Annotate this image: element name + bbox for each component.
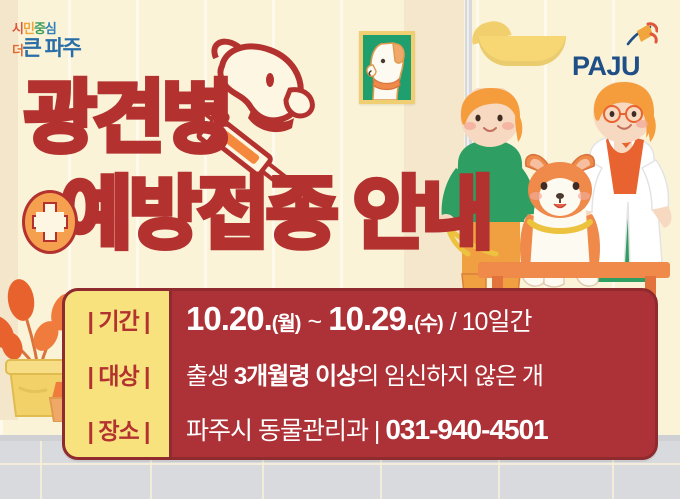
info-value-target: 출생 3개월령 이상의 임신하지 않은 개 — [172, 356, 655, 391]
tagline-char-2: 민 — [23, 21, 34, 36]
poster-title: 광견병 예방접종 안내 — [16, 78, 486, 268]
running-figure-mark-icon — [624, 22, 658, 48]
info-value-place: 파주시 동물관리과 | 031-940-4501 — [172, 411, 655, 447]
target-strong: 3개월령 이상 — [234, 363, 357, 390]
period-end-date: 10.29. — [328, 300, 414, 337]
target-pre: 출생 — [186, 363, 234, 390]
tagline-char-4: 심 — [45, 21, 56, 36]
city-name-logo: 더큰 파주 — [12, 37, 132, 62]
tagline-char-1: 시 — [12, 21, 23, 36]
target-post: 의 임신하지 않은 개 — [357, 363, 543, 390]
info-row-place: | 장소 | 파주시 동물관리과 | 031-940-4501 — [65, 402, 655, 457]
tagline-char-3: 중 — [34, 21, 45, 36]
period-duration: / 10일간 — [450, 308, 532, 336]
period-tilde: ~ — [308, 308, 322, 336]
info-label-place: | 장소 | — [65, 412, 172, 446]
paju-wordmark: PAJU — [572, 52, 640, 80]
place-office: 파주시 동물관리과 — [186, 417, 368, 445]
period-end-day: (수) — [414, 313, 443, 335]
info-row-target: | 대상 | 출생 3개월령 이상의 임신하지 않은 개 — [65, 346, 655, 401]
medical-cross-icon — [22, 190, 78, 254]
info-panel: | 기간 | 10.20.(월) ~ 10.29.(수) / 10일간 | 대상… — [62, 288, 658, 460]
info-row-period: | 기간 | 10.20.(월) ~ 10.29.(수) / 10일간 — [65, 291, 655, 346]
title-line-2: 예방접종 안내 — [60, 174, 490, 254]
info-value-period: 10.20.(월) ~ 10.29.(수) / 10일간 — [172, 300, 655, 338]
info-label-period: | 기간 | — [65, 302, 172, 336]
rabies-vaccination-poster: 시민중심 더큰 파주 PAJU — [0, 0, 680, 499]
city-slogan-logo: 시민중심 더큰 파주 — [12, 22, 132, 62]
period-start-date: 10.20. — [186, 300, 272, 337]
city-slogan-tagline: 시민중심 — [12, 22, 132, 36]
city-name-prefix: 더 — [12, 43, 22, 58]
paju-logo: PAJU — [572, 22, 662, 80]
period-start-day: (월) — [272, 313, 301, 335]
place-phone: 031-940-4501 — [385, 414, 547, 445]
info-label-target: | 대상 | — [65, 357, 172, 391]
city-name-main: 큰 파주 — [22, 37, 80, 60]
title-line-1: 광견병 — [24, 78, 230, 158]
exam-table-top — [478, 262, 670, 278]
place-divider: | — [374, 417, 380, 445]
